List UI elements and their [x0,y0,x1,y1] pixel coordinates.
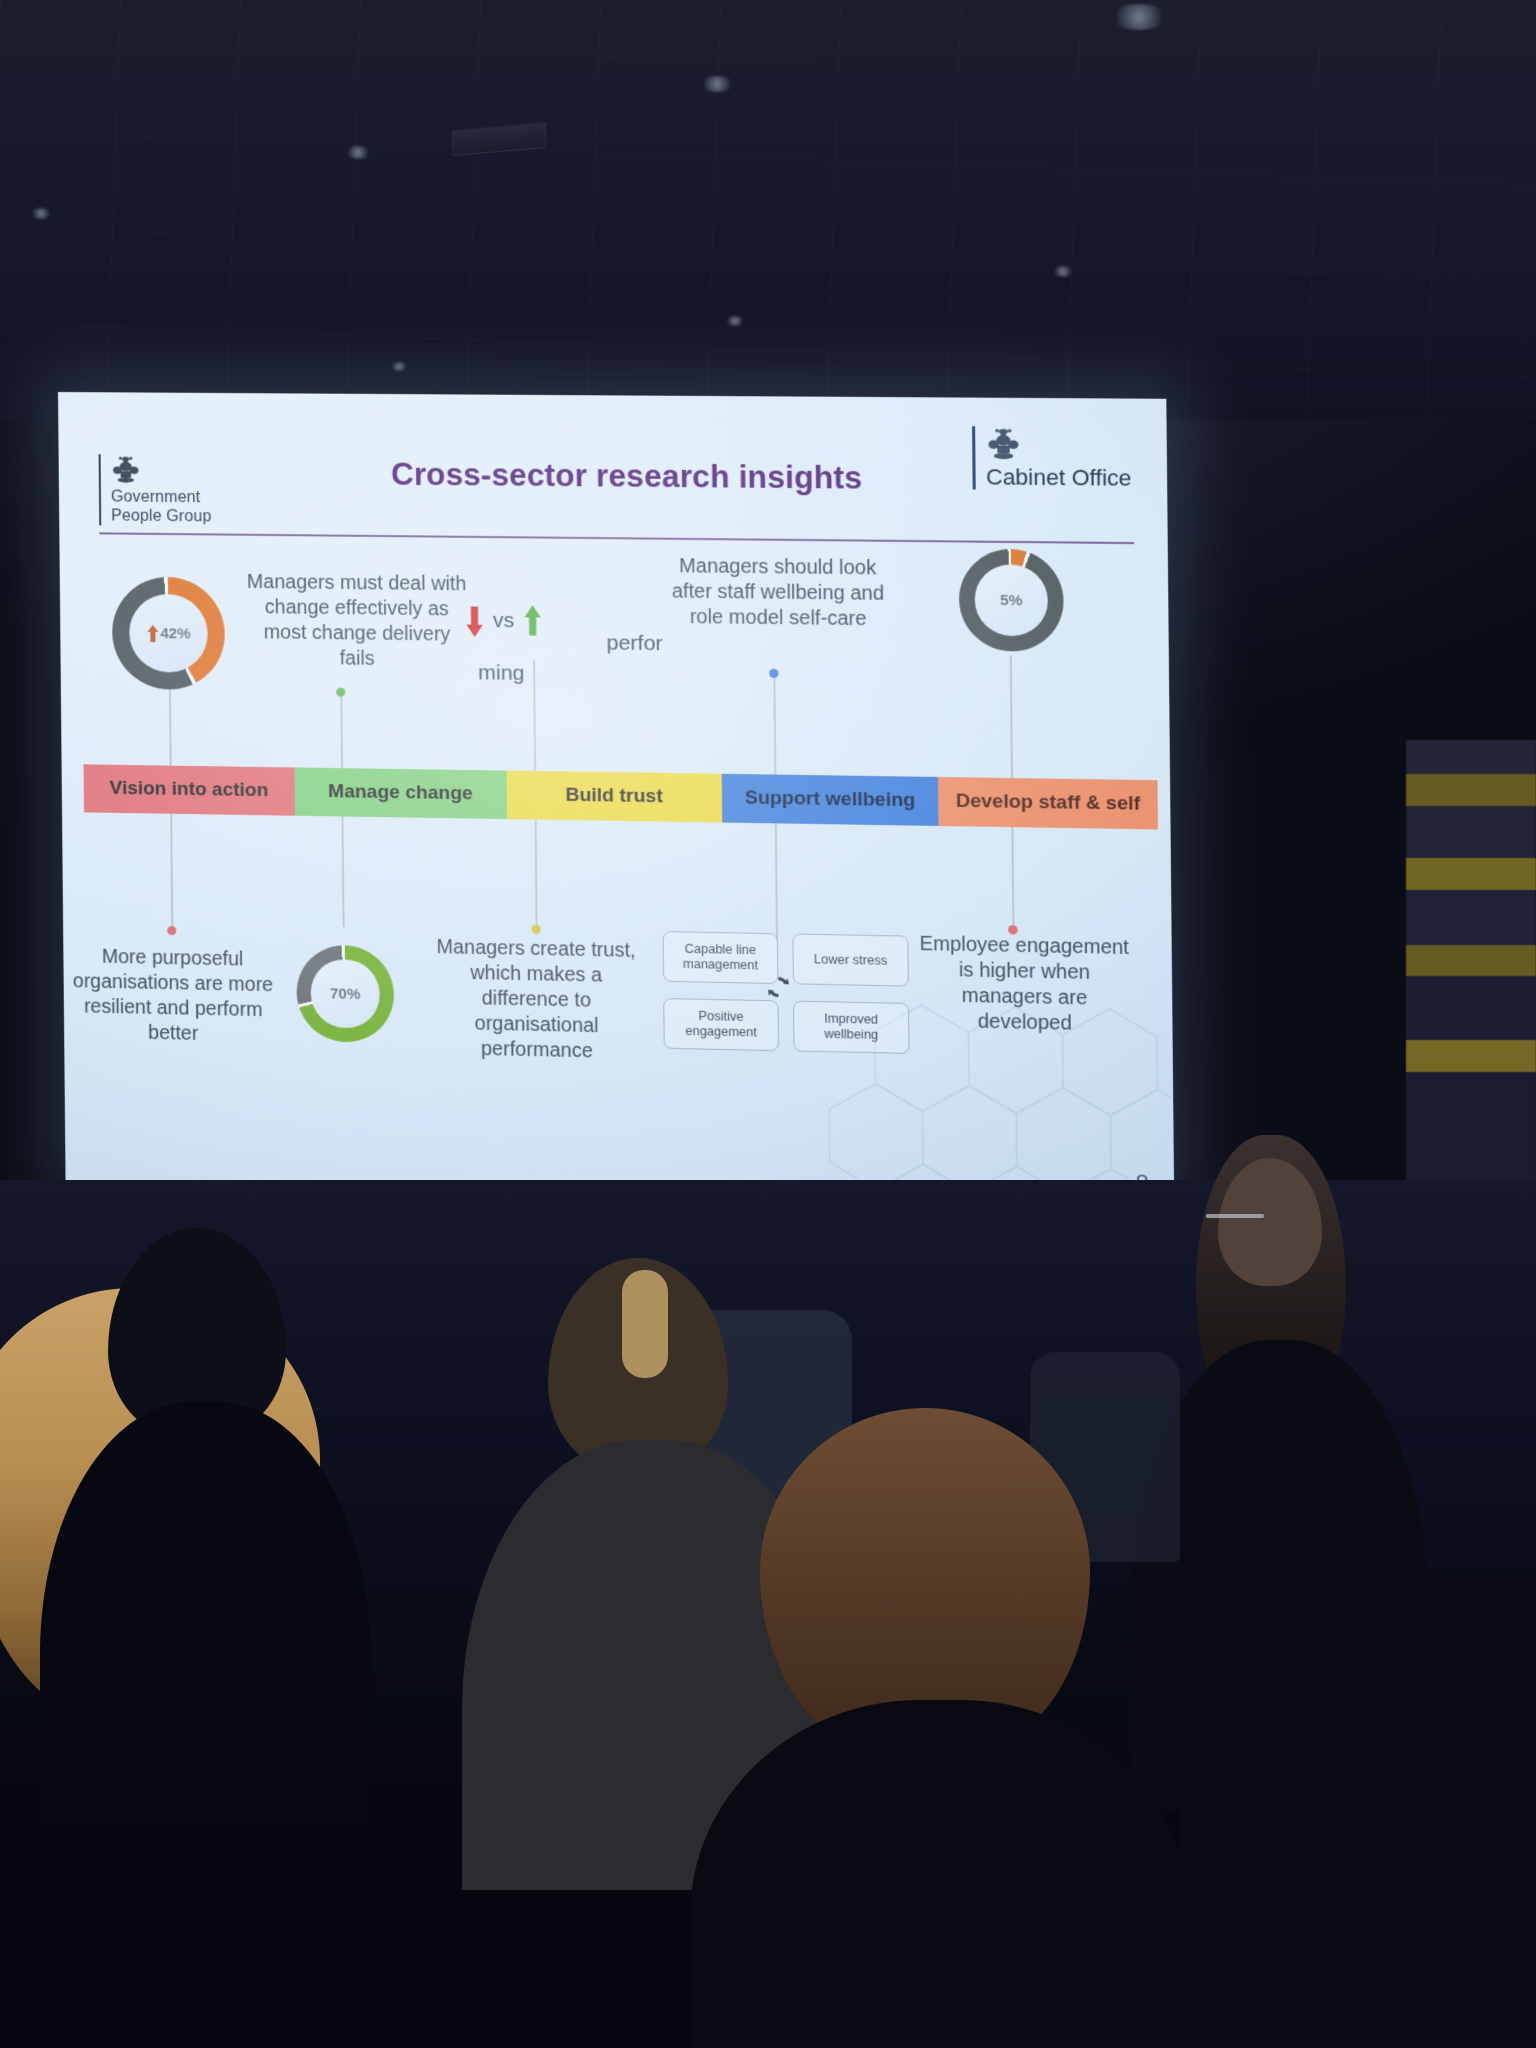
dot-vision-bottom [167,926,176,935]
dot-build-trust-bottom [532,925,541,934]
band-segment-vision-into-action[interactable]: Vision into action [84,764,295,815]
stem-manage-change [340,692,343,769]
arrow-down-red-icon [465,604,484,637]
projection-screen: Government People Group Cross-sector res… [58,392,1174,1209]
cabinet-office-name: Cabinet Office [986,464,1140,491]
stem-build-trust [533,660,536,771]
ceiling-light-icon [30,208,52,219]
cycle-box-positive-engagement[interactable]: Positive engagement [663,998,779,1051]
band-label: Manage change [328,781,473,805]
cabinet-office-logo: Cabinet Office [972,426,1140,491]
build-trust-outcome-text: Managers create trust, which makes a dif… [434,935,639,1066]
band-segment-develop-staff-self[interactable]: Develop staff & self [938,777,1158,829]
donut-42: 42% [112,577,225,691]
donut-70-value: 70% [330,985,361,1003]
band-segment-manage-change[interactable]: Manage change [294,767,507,819]
vs-label: vs [493,609,515,633]
conference-room-photo: Government People Group Cross-sector res… [0,0,1536,2048]
arrow-up-green-icon [523,605,542,638]
audience-body-right [1180,1570,1536,2048]
stem-develop-bottom [1011,827,1014,929]
hair-bun [622,1270,668,1378]
ceiling-light-icon [390,362,408,371]
ceiling-light-icon [1110,4,1168,30]
audience-head-foreground [760,1408,1090,1748]
stem-vision-bottom [170,814,173,930]
page-title: Cross-sector research insights [320,456,935,497]
dot-support-wellbeing [769,669,778,678]
royal-crest-icon [111,454,141,484]
band-segment-build-trust[interactable]: Build trust [507,771,722,823]
fragment-ming: ming [478,661,525,686]
donut-70-hole: 70% [311,959,380,1028]
capability-band: Vision into action Manage change Build t… [84,764,1158,829]
audience-silhouettes [0,1140,1536,2048]
arrow-up-orange-icon [146,624,159,641]
stem-support-wellbeing [773,673,776,775]
government-people-group-logo: Government People Group [99,454,250,526]
band-label: Support wellbeing [745,787,916,812]
band-segment-support-wellbeing[interactable]: Support wellbeing [721,774,938,826]
stem-build-trust-bottom [535,820,538,929]
manage-change-insight-text: Managers must deal with change effective… [246,570,468,673]
band-label: Develop staff & self [956,791,1141,816]
donut-42-value: 42% [160,625,190,642]
band-label: Vision into action [109,778,268,803]
ceiling-light-icon [345,146,371,159]
donut-70: 70% [296,944,394,1043]
donut-5-hole: 5% [974,564,1048,636]
cycle-box-capable-line-management[interactable]: Capable line management [663,931,779,984]
dot-manage-change [336,688,345,697]
cycle-box-lower-stress[interactable]: Lower stress [792,933,909,986]
header-divider [99,532,1134,544]
cycle-box-improved-wellbeing[interactable]: Improved wellbeing [793,1001,910,1054]
vision-into-action-outcome-text: More purposeful organisations are more r… [71,944,275,1048]
refresh-cycle-icon [765,974,792,1001]
ceiling-light-icon [700,76,734,92]
gpg-line-1: Government [111,487,250,507]
stem-develop-self-top [1010,655,1013,778]
support-wellbeing-insight-text: Managers should look after staff wellbei… [669,554,887,633]
ceiling-light-icon [725,316,745,326]
royal-crest-icon [986,426,1022,461]
donut-5-value: 5% [1000,591,1023,609]
ceiling-light-icon [1052,266,1074,277]
band-label: Build trust [565,785,663,809]
stem-vision-top [169,689,172,765]
speaker-glasses-icon [1206,1214,1264,1218]
stem-manage-change-bottom [341,816,344,927]
develop-staff-outcome-text: Employee engagement is higher when manag… [917,932,1133,1038]
stem-support-wellbeing-bottom [775,823,778,941]
donut-5: 5% [959,549,1064,652]
down-vs-up-arrows: vs [465,604,542,637]
ceiling [0,0,1536,420]
donut-42-hole: 42% [129,594,208,674]
presentation-slide: Government People Group Cross-sector res… [58,392,1174,1209]
gpg-line-2: People Group [111,506,250,526]
fragment-perfor: perfor [606,631,662,656]
